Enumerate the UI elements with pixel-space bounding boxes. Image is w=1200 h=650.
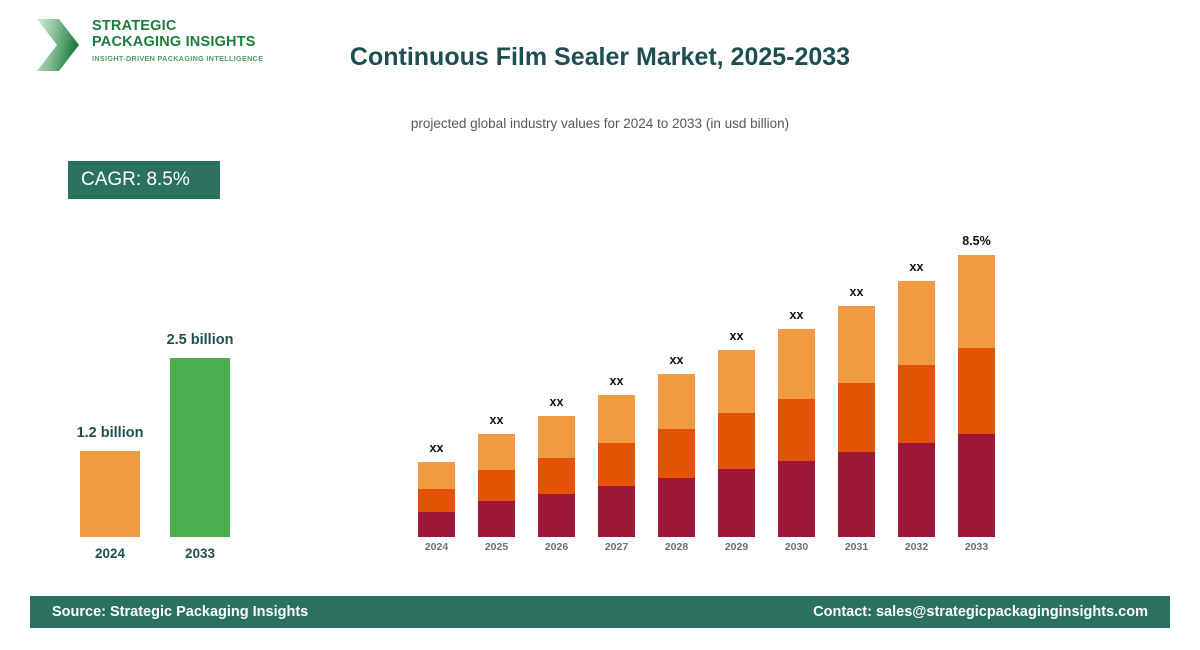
chart-title: Continuous Film Sealer Market, 2025-2033 [300, 43, 900, 72]
stacked-bar-2032: xx2032 [898, 281, 935, 538]
stacked-bar-year-label: 2030 [785, 541, 808, 553]
stacked-bar-value-label: xx [790, 308, 804, 322]
stacked-bar-2031: xx2031 [838, 306, 875, 537]
stacked-bar-year-label: 2026 [545, 541, 568, 553]
stacked-bar-year-label: 2025 [485, 541, 508, 553]
comparison-bar-2024: 1.2 billion2024 [80, 451, 140, 537]
stacked-bar-value-label: xx [910, 260, 924, 274]
stacked-bar-segment-segment-2 [958, 348, 995, 434]
stacked-bar-segment-segment-1 [898, 443, 935, 538]
chevron-logo-icon [35, 17, 81, 73]
stacked-bar-value-label: xx [670, 353, 684, 367]
stacked-bar-year-label: 2033 [965, 541, 988, 553]
stacked-bar-segment-segment-1 [838, 452, 875, 538]
stacked-bar-segment-segment-1 [718, 469, 755, 537]
footer-contact: Contact: sales@strategicpackaginginsight… [813, 604, 1148, 620]
brand-logo-text: STRATEGIC PACKAGING INSIGHTS INSIGHT-DRI… [92, 18, 263, 63]
stacked-bar-2028: xx2028 [658, 374, 695, 537]
stacked-bar-segment-segment-3 [418, 462, 455, 489]
stacked-bar-segment-segment-1 [778, 461, 815, 537]
stacked-bar-segment-segment-1 [418, 512, 455, 538]
stacked-bar-segment-segment-3 [538, 416, 575, 458]
stacked-bar-segment-segment-3 [898, 281, 935, 366]
comparison-bar-value-label: 1.2 billion [77, 425, 144, 441]
stacked-bar-segment-segment-2 [478, 470, 515, 502]
comparison-bar-value-label: 2.5 billion [167, 332, 234, 348]
stacked-bar-year-label: 2031 [845, 541, 868, 553]
stacked-bar-year-label: 2028 [665, 541, 688, 553]
stacked-bar-value-label: xx [850, 285, 864, 299]
footer-bar: Source: Strategic Packaging Insights Con… [30, 596, 1170, 628]
stacked-bar-2029: xx2029 [718, 350, 755, 537]
footer-source: Source: Strategic Packaging Insights [52, 604, 308, 620]
brand-name-line2: PACKAGING INSIGHTS [92, 34, 263, 50]
stacked-bar-segment-segment-2 [838, 383, 875, 452]
stacked-bar-segment-segment-1 [478, 501, 515, 537]
stacked-bar-value-label: xx [550, 395, 564, 409]
stacked-bar-year-label: 2032 [905, 541, 928, 553]
stacked-bar-segment-segment-3 [958, 255, 995, 348]
stacked-bar-value-label: xx [490, 413, 504, 427]
stacked-bar-chart: xx2024xx2025xx2026xx2027xx2028xx2029xx20… [410, 200, 1010, 560]
stacked-bar-segment-segment-2 [598, 443, 635, 487]
stacked-bar-2030: xx2030 [778, 329, 815, 537]
stacked-bar-2024: xx2024 [418, 462, 455, 537]
brand-logo: STRATEGIC PACKAGING INSIGHTS INSIGHT-DRI… [30, 14, 290, 76]
stacked-bar-segment-segment-3 [478, 434, 515, 469]
comparison-bar-2033: 2.5 billion2033 [170, 358, 230, 537]
stacked-bar-segment-segment-3 [838, 306, 875, 383]
stacked-bar-segment-segment-2 [718, 413, 755, 469]
stacked-bar-2026: xx2026 [538, 416, 575, 538]
stacked-bar-segment-segment-1 [658, 478, 695, 537]
stacked-bar-segment-segment-2 [778, 399, 815, 461]
stacked-bar-segment-segment-3 [658, 374, 695, 429]
comparison-bar-chart: 1.2 billion20242.5 billion2033 [0, 300, 320, 570]
comparison-bar-year-label: 2024 [95, 546, 125, 561]
stacked-bar-segment-segment-1 [598, 486, 635, 537]
chart-subtitle: projected global industry values for 202… [300, 116, 900, 131]
stacked-bar-value-label: xx [430, 441, 444, 455]
stacked-bar-segment-segment-2 [658, 429, 695, 478]
stacked-bar-year-label: 2027 [605, 541, 628, 553]
stacked-bar-segment-segment-3 [778, 329, 815, 399]
stacked-bar-year-label: 2024 [425, 541, 448, 553]
cagr-badge-label: CAGR: 8.5% [81, 169, 190, 191]
stacked-bar-segment-segment-2 [898, 365, 935, 442]
brand-name-line1: STRATEGIC [92, 18, 263, 34]
stacked-bar-segment-segment-2 [418, 489, 455, 512]
stacked-bar-segment-segment-3 [718, 350, 755, 412]
stacked-bar-2033: 8.5%2033 [958, 255, 995, 537]
comparison-bar-year-label: 2033 [185, 546, 215, 561]
stacked-bar-segment-segment-1 [958, 434, 995, 537]
stacked-bar-year-label: 2029 [725, 541, 748, 553]
stacked-bar-value-label: xx [730, 329, 744, 343]
stacked-bar-value-label: 8.5% [962, 234, 991, 248]
stacked-bar-segment-segment-3 [598, 395, 635, 442]
brand-tagline: INSIGHT-DRIVEN PACKAGING INTELLIGENCE [92, 54, 263, 63]
stacked-bar-segment-segment-1 [538, 494, 575, 537]
cagr-badge: CAGR: 8.5% [68, 161, 220, 199]
stacked-bar-2027: xx2027 [598, 395, 635, 537]
stacked-bar-value-label: xx [610, 374, 624, 388]
stacked-bar-2025: xx2025 [478, 434, 515, 537]
stacked-bar-segment-segment-2 [538, 458, 575, 495]
